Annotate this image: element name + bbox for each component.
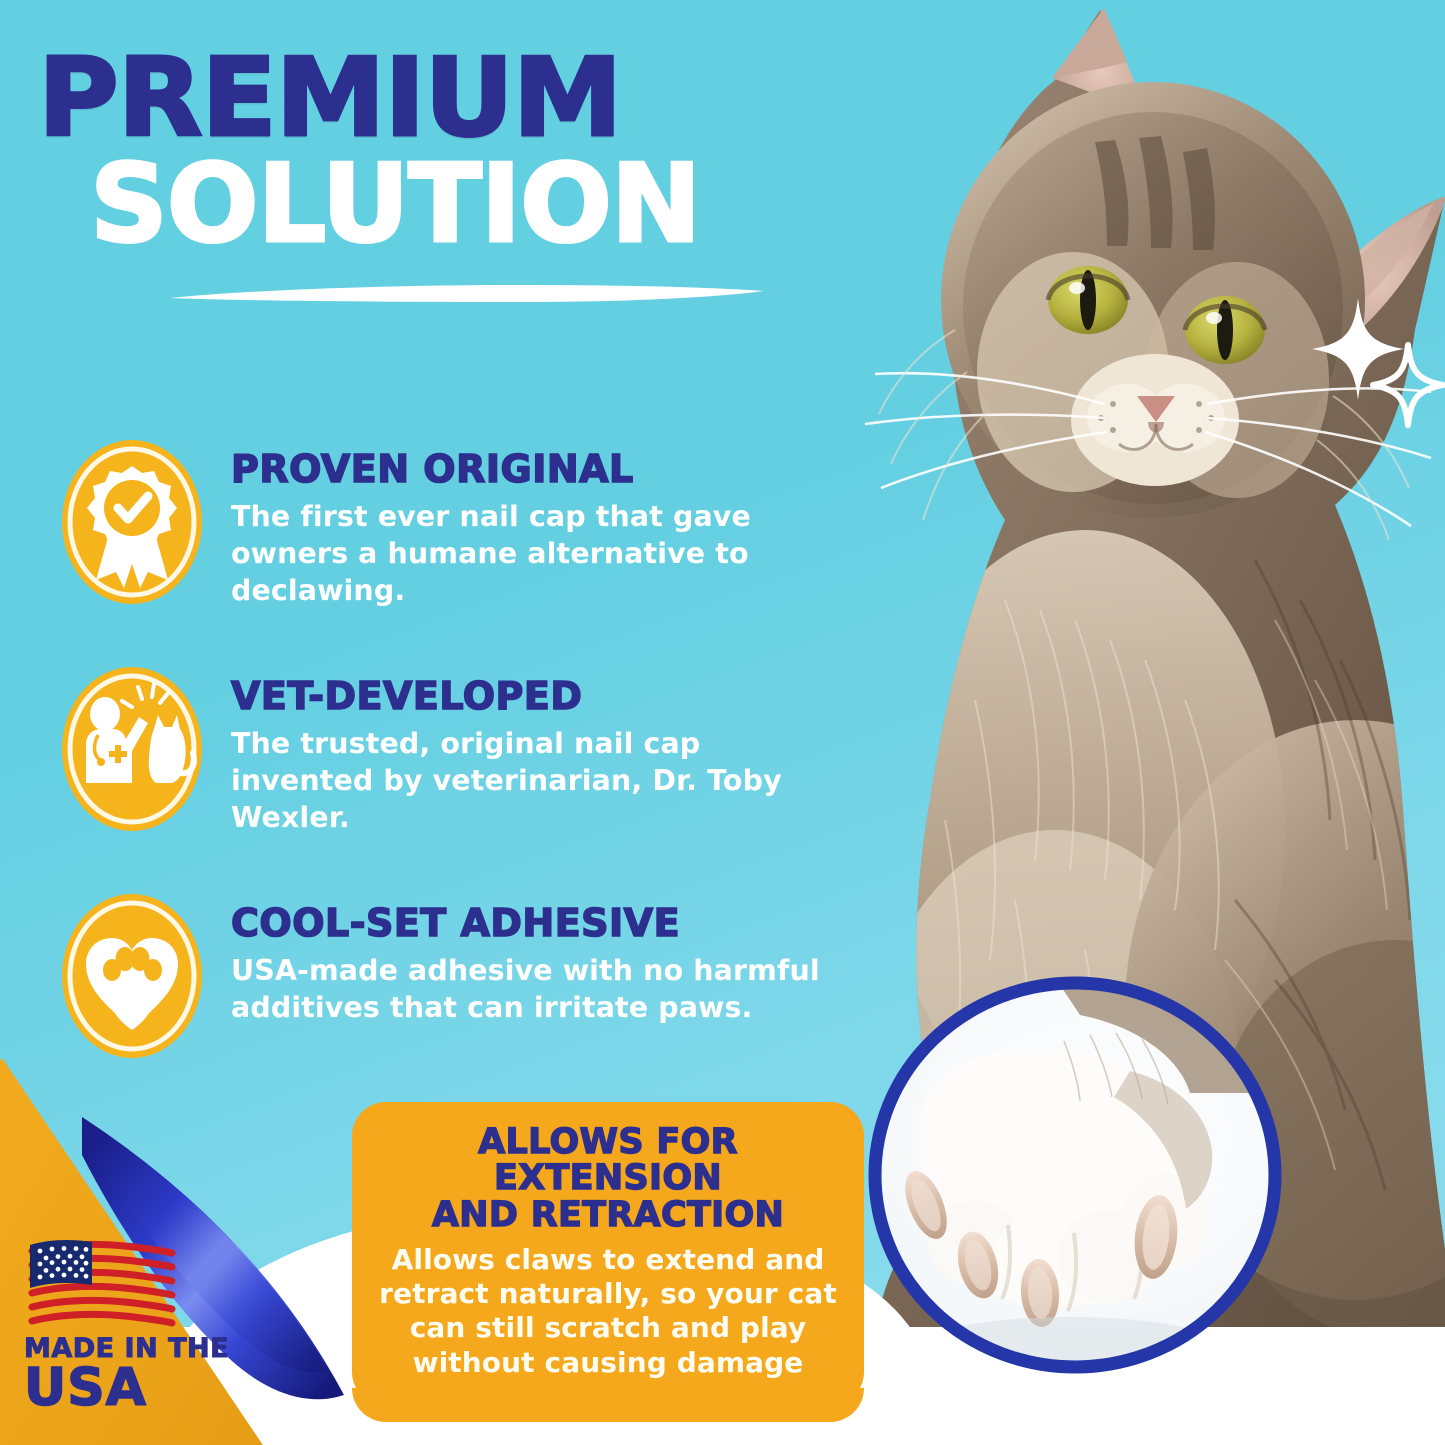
feature-description: USA-made adhesive with no harmful additi… xyxy=(231,952,850,1026)
headline-line-premium: PREMIUM xyxy=(38,48,874,150)
veterinarian-high-five-cat-icon xyxy=(60,665,205,833)
headline-block: PREMIUM SOLUTION xyxy=(38,48,858,312)
feature-description: The first ever nail cap that gave owners… xyxy=(231,498,850,609)
callout-title-line2: AND RETRACTION xyxy=(432,1195,784,1235)
feature-title: PROVEN ORIGINAL xyxy=(231,450,850,488)
feature-item-vet-developed: VET-DEVELOPED The trusted, original nail… xyxy=(60,665,850,836)
made-in-usa-badge: MADE IN THE USA xyxy=(24,1239,244,1415)
cat-paw-inset xyxy=(860,975,1330,1375)
callout-extension-retraction: ALLOWS FOR EXTENSION AND RETRACTION Allo… xyxy=(352,1102,864,1406)
made-in-usa-line2: USA xyxy=(24,1362,244,1415)
feature-description: The trusted, original nail cap invented … xyxy=(231,725,850,836)
feature-title: VET-DEVELOPED xyxy=(231,677,850,715)
callout-title: ALLOWS FOR EXTENSION AND RETRACTION xyxy=(378,1124,838,1233)
feature-title: COOL-SET ADHESIVE xyxy=(231,904,850,942)
feature-item-proven-original: PROVEN ORIGINAL The first ever nail cap … xyxy=(60,438,850,609)
award-ribbon-check-icon xyxy=(60,438,205,606)
product-infographic: PREMIUM SOLUTION xyxy=(0,0,1445,1445)
sparkle-star-outline-icon xyxy=(1370,342,1445,428)
heart-paw-print-icon xyxy=(60,892,205,1060)
feature-item-cool-set-adhesive: COOL-SET ADHESIVE USA-made adhesive with… xyxy=(60,892,850,1060)
callout-body: Allows claws to extend and retract natur… xyxy=(378,1243,838,1380)
brush-stroke-underline-icon xyxy=(168,281,768,307)
headline-line-solution: SOLUTION xyxy=(90,152,858,258)
callout-title-line1: ALLOWS FOR EXTENSION xyxy=(478,1122,738,1198)
feature-list: PROVEN ORIGINAL The first ever nail cap … xyxy=(60,438,850,1116)
usa-flag-icon xyxy=(24,1239,176,1327)
